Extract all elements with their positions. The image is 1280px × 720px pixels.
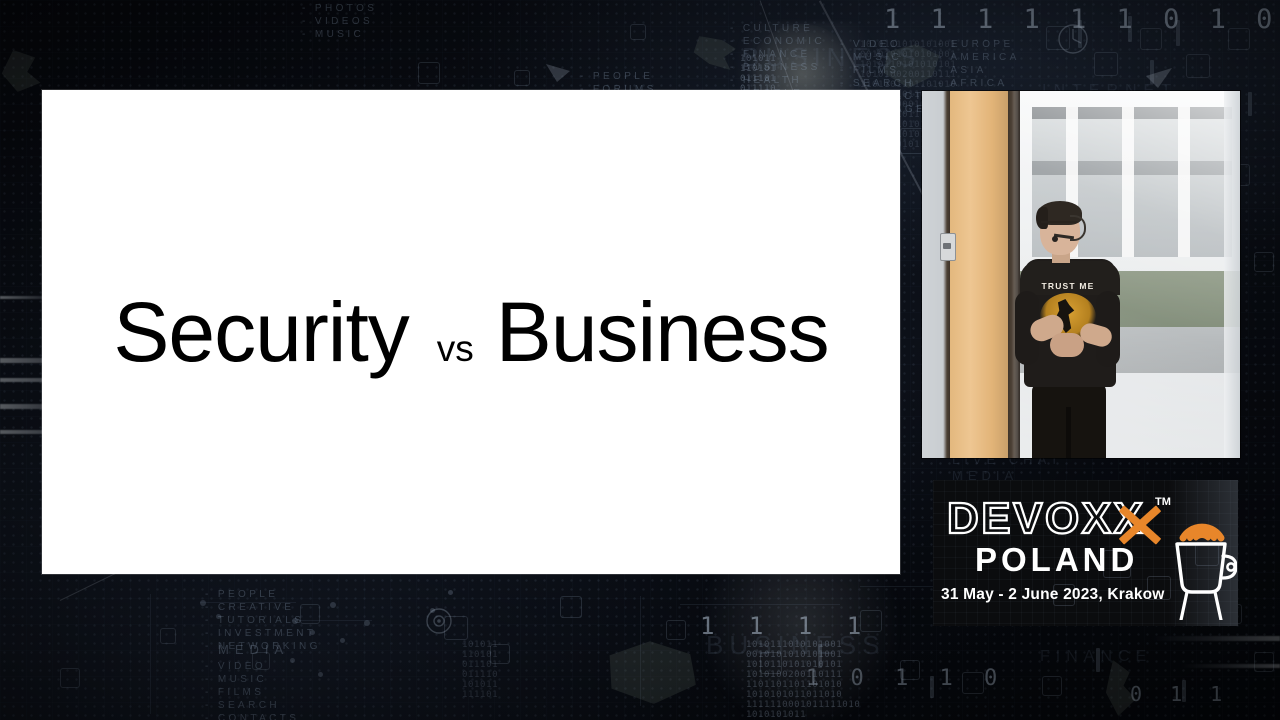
background-ghost-word-business: BUSINESS bbox=[742, 42, 922, 73]
slide-word-security: Security bbox=[113, 286, 408, 378]
background-keyword-media-title: MEDIA bbox=[218, 642, 289, 657]
devoxx-orange-x-icon bbox=[1115, 502, 1161, 544]
background-keywords-regions: - EUROPE - AMERICA - ASIA - AFRICA bbox=[938, 38, 1020, 90]
background-keywords-media: - VIDEO - MUSIC - FILMS - SEARCH - CONTA… bbox=[205, 660, 301, 720]
video-window-frame-right bbox=[1224, 91, 1240, 458]
slide-title: Security vs Business bbox=[42, 286, 900, 395]
slide-word-vs: vs bbox=[409, 303, 496, 395]
devoxx-logo-panel: DEVOXX TM POLAND 31 May - 2 June 2023, K… bbox=[933, 480, 1238, 626]
background-binary-block-d: 101011 110101 011101 011110 101011 11110… bbox=[462, 640, 498, 700]
speaker-leg-gap bbox=[1066, 407, 1071, 458]
speaker-hands bbox=[1050, 333, 1084, 357]
devoxx-coffee-cup-icon bbox=[1165, 492, 1237, 620]
slide-word-business: Business bbox=[496, 286, 829, 378]
background-binary-top: 1 1 1 1 1 1 0 1 0 1 0 bbox=[884, 4, 1280, 35]
video-door-panel bbox=[950, 91, 1008, 458]
video-speaker-person: TRUST ME bbox=[1012, 199, 1127, 458]
background-keywords-photos: - PHOTOS - VIDEOS - MUSIC bbox=[302, 2, 377, 41]
presentation-recording-frame: 1 1 1 1 1 1 0 1 0 1 0 1 1 1 1 1 0 1 1 0 … bbox=[0, 0, 1280, 720]
speaker-mic-capsule bbox=[1052, 236, 1058, 242]
video-door-card-reader-slot bbox=[943, 243, 951, 249]
devoxx-country-label: POLAND bbox=[975, 542, 1138, 577]
slide-panel: Security vs Business bbox=[42, 90, 900, 574]
background-cursor-arrow-icon-2 bbox=[544, 62, 570, 84]
devoxx-date-label: 31 May - 2 June 2023, Krakow bbox=[941, 586, 1165, 604]
speaker-shirt-text: TRUST ME bbox=[1034, 281, 1102, 291]
speaker-video-feed: TRUST ME bbox=[922, 91, 1240, 458]
background-ghost-word-business-bottom: BUSINESS bbox=[706, 630, 886, 661]
background-target-icon bbox=[424, 606, 454, 636]
background-ghost-word-business-right: FINANCE bbox=[1040, 648, 1152, 666]
background-binary-bottom-far-right: 0 1 1 bbox=[1130, 682, 1230, 706]
